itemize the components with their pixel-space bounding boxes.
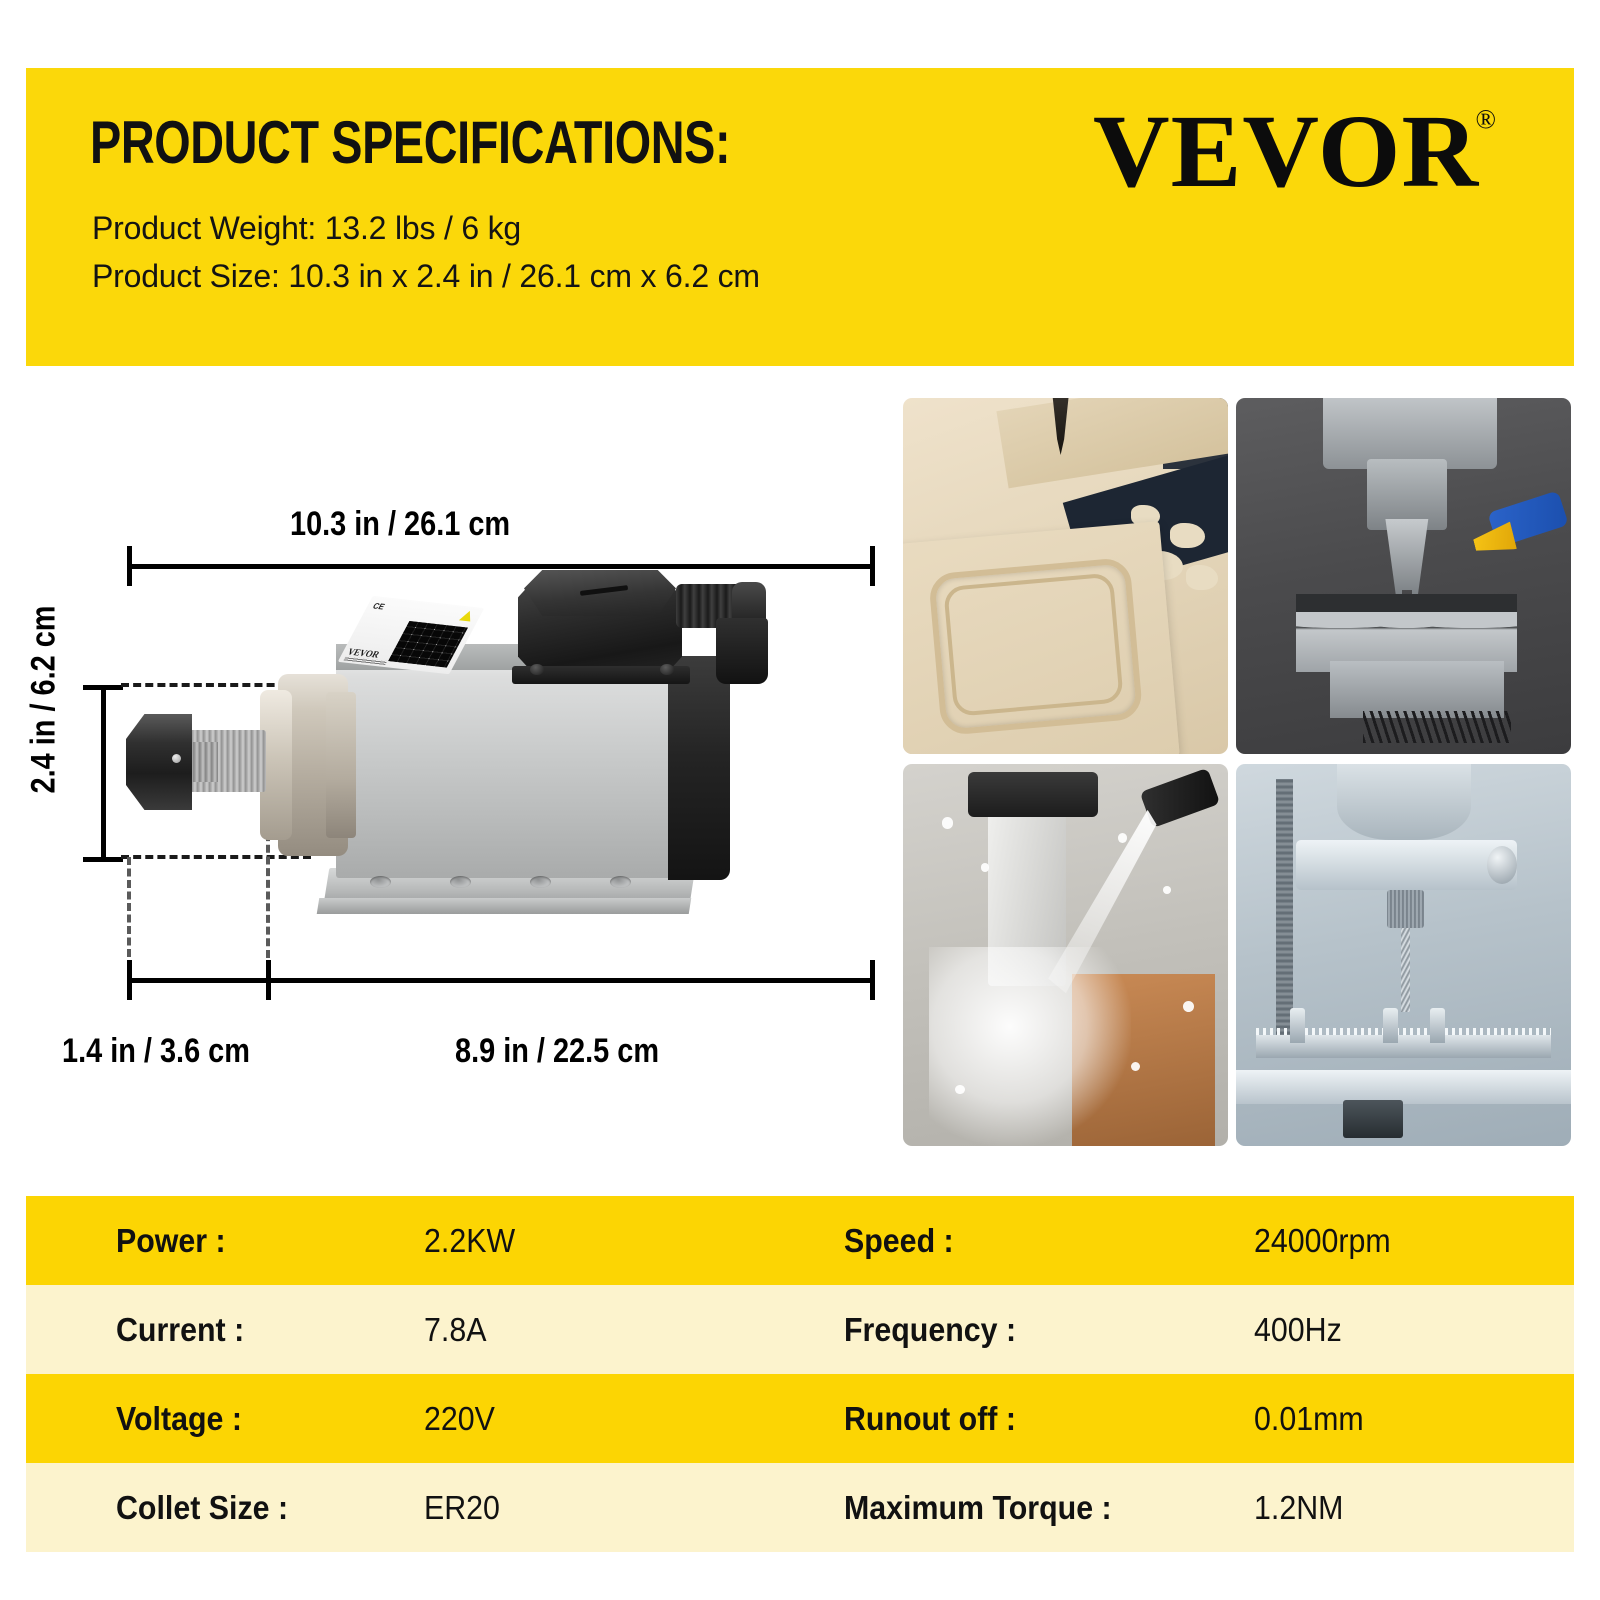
product-size-text: Product Size: 10.3 in x 2.4 in / 26.1 cm…	[92, 258, 760, 295]
spec-value-collet-size: ER20	[424, 1463, 500, 1552]
dimension-diagram: 10.3 in / 26.1 cm 2.4 in / 6.2 cm 1.4 in…	[0, 380, 880, 1100]
coolant-droplet	[981, 863, 989, 871]
spindle-front-flange-step	[326, 692, 356, 838]
spec-value-current: 7.8A	[424, 1285, 486, 1374]
spec-label-speed: Speed :	[844, 1196, 954, 1285]
junction-box-screw	[530, 664, 544, 675]
coolant-droplet	[955, 1085, 965, 1095]
cabinet-door-panel	[903, 522, 1179, 754]
spec-label-current: Current :	[116, 1285, 244, 1374]
spec-value-frequency: 400Hz	[1254, 1285, 1342, 1374]
dimension-bottom-tick-mid	[266, 960, 271, 1000]
dimension-nose-label: 1.4 in / 3.6 cm	[62, 1032, 250, 1071]
sticker-spec-grid	[388, 621, 468, 668]
base-bolt-hole	[530, 876, 551, 888]
pcb-standoff	[1383, 1008, 1398, 1042]
page-title: PRODUCT SPECIFICATIONS:	[90, 108, 730, 177]
cable-gland-elbow	[716, 618, 768, 684]
lead-screw-column	[1276, 779, 1293, 1039]
spec-label-frequency: Frequency :	[844, 1285, 1016, 1374]
photo-tile-pcb-drilling	[1236, 764, 1571, 1146]
vise-block	[1330, 661, 1504, 718]
base-bolt-hole	[370, 876, 391, 888]
spec-label-runout-off: Runout off :	[844, 1374, 1016, 1463]
er20-collet-nut	[126, 714, 192, 810]
spindle-motor-image: CE VEVOR	[120, 560, 880, 960]
photo-tile-coolant-spray-milling	[903, 764, 1228, 1146]
table-fixture	[1343, 1100, 1403, 1138]
dimension-body-label: 8.9 in / 22.5 cm	[455, 1032, 659, 1071]
dimension-length-label: 10.3 in / 26.1 cm	[290, 505, 510, 544]
coolant-droplet	[1183, 1001, 1194, 1012]
brand-logo: VEVOR ®	[1093, 100, 1496, 204]
tool-holder-cap	[968, 772, 1098, 818]
tool-holder	[1367, 459, 1447, 530]
dimension-bottom-tick-right	[870, 960, 875, 1000]
spec-value-power: 2.2KW	[424, 1196, 515, 1285]
infographic-page: PRODUCT SPECIFICATIONS: Product Weight: …	[0, 0, 1600, 1600]
spec-label-collet-size: Collet Size :	[116, 1463, 288, 1552]
specification-table: Power : 2.2KW Speed : 24000rpm Current :…	[26, 1196, 1574, 1552]
spec-value-voltage: 220V	[424, 1374, 495, 1463]
routed-groove-inner	[943, 573, 1124, 718]
application-photo-grid	[903, 398, 1571, 1146]
metal-chips	[1363, 711, 1510, 743]
spec-value-maximum-torque: 1.2NM	[1254, 1463, 1343, 1552]
base-bolt-hole	[450, 876, 471, 888]
coolant-droplet	[1131, 1062, 1140, 1071]
photo-tile-cnc-wood-routing	[903, 398, 1228, 754]
ce-mark-icon: CE	[371, 601, 386, 611]
product-weight-text: Product Weight: 13.2 lbs / 6 kg	[92, 210, 521, 247]
drill-head	[1337, 764, 1471, 840]
coolant-droplet	[1118, 833, 1128, 843]
machine-table	[1236, 1070, 1571, 1104]
dimension-height-label: 2.4 in / 6.2 cm	[25, 581, 64, 819]
base-bolt-hole	[610, 876, 631, 888]
spec-value-speed: 24000rpm	[1254, 1196, 1391, 1285]
drill-bit	[1401, 928, 1410, 1012]
spec-label-maximum-torque: Maximum Torque :	[844, 1463, 1112, 1552]
photo-tile-cnc-metal-milling	[1236, 398, 1571, 754]
mounting-flange	[1296, 840, 1517, 890]
carved-ornament	[1186, 565, 1219, 590]
dimension-height-tick-top	[83, 685, 123, 690]
pcb-standoff	[1430, 1008, 1445, 1042]
brand-wordmark: VEVOR	[1093, 100, 1479, 204]
junction-box-screw	[660, 664, 674, 675]
spec-value-runout-off: 0.01mm	[1254, 1374, 1364, 1463]
dimension-height-tick-bottom	[83, 857, 123, 862]
drill-chuck	[1387, 890, 1424, 928]
header-banner: PRODUCT SPECIFICATIONS: Product Weight: …	[26, 68, 1574, 366]
coolant-splash	[929, 947, 1131, 1146]
collet-nut-pin	[172, 754, 181, 763]
warning-triangle-icon	[459, 610, 476, 621]
table-row: Power : 2.2KW Speed : 24000rpm	[26, 1196, 1574, 1285]
spec-label-power: Power :	[116, 1196, 226, 1285]
mounting-base-edge	[317, 898, 692, 914]
coolant-droplet	[1163, 886, 1171, 894]
spindle-rear-cap	[668, 656, 730, 880]
table-row: Current : 7.8A Frequency : 400Hz	[26, 1285, 1574, 1374]
pcb-standoff	[1290, 1008, 1305, 1042]
table-row: Voltage : 220V Runout off : 0.01mm	[26, 1374, 1574, 1463]
dimension-bottom-line	[127, 978, 875, 983]
dimension-bottom-tick-left	[127, 960, 132, 1000]
machined-wave-profile	[1296, 612, 1517, 640]
spec-label-voltage: Voltage :	[116, 1374, 242, 1463]
dimension-height-line	[101, 685, 106, 861]
table-row: Collet Size : ER20 Maximum Torque : 1.2N…	[26, 1463, 1574, 1552]
